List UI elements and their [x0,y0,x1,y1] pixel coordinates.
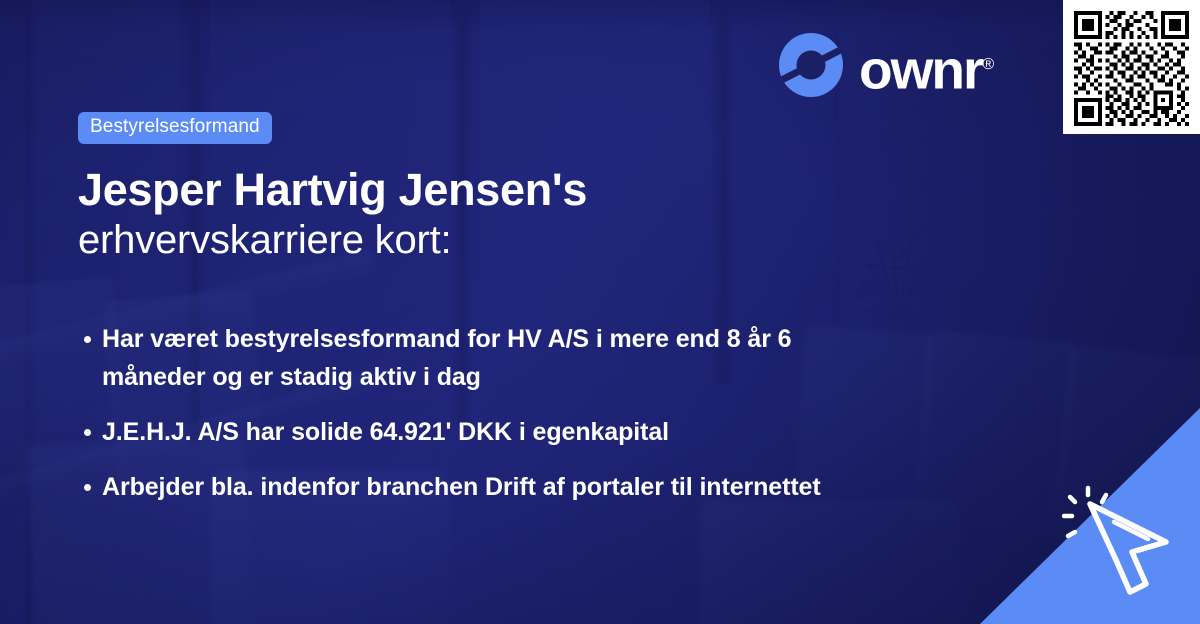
page-subtitle: erhvervskarriere kort: [78,216,978,264]
list-item: Arbejder bla. indenfor branchen Drift af… [78,468,862,506]
list-item: J.E.H.J. A/S har solide 64.921' DKK i eg… [78,413,862,451]
list-item: Har været bestyrelsesformand for HV A/S … [78,320,862,396]
career-card: ownr® [0,0,1200,624]
role-badge: Bestyrelsesformand [78,112,272,144]
cursor-click-icon [1062,482,1182,602]
card-content: Bestyrelsesformand Jesper Hartvig Jensen… [78,0,978,523]
registered-trademark-icon: ® [982,56,994,73]
qr-code-icon [1074,11,1189,126]
qr-code[interactable] [1063,0,1200,134]
page-title: Jesper Hartvig Jensen's [78,164,978,216]
fact-list: Har været bestyrelsesformand for HV A/S … [78,320,978,506]
